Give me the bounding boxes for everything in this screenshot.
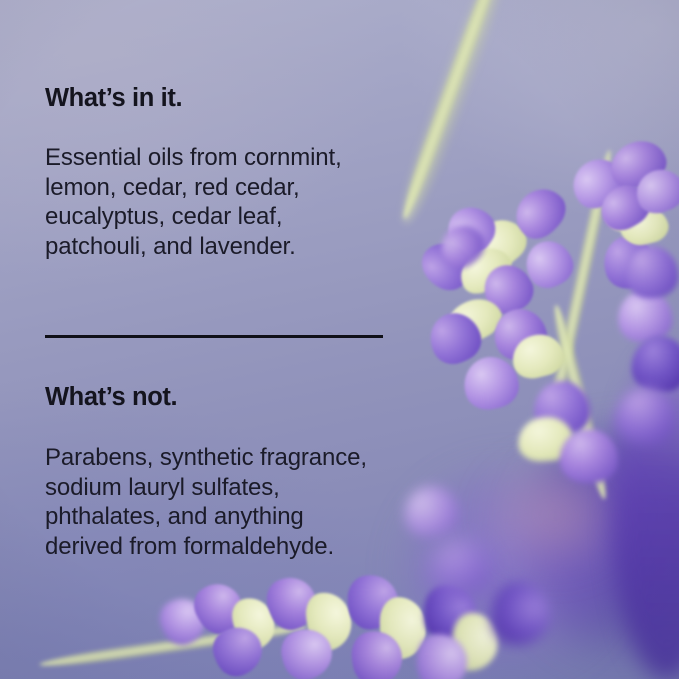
body-whats-not: Parabens, synthetic fragrance, sodium la… [45,443,367,561]
section-divider [45,335,383,338]
body-line: lemon, cedar, red cedar, [45,173,342,203]
heading-whats-in-it: What’s in it. [45,84,182,113]
ingredients-panel: What’s in it. Essential oils from cornmi… [0,0,679,679]
body-line: sodium lauryl sulfates, [45,473,367,503]
copy-container: What’s in it. Essential oils from cornmi… [45,0,475,679]
body-whats-in-it: Essential oils from cornmint, lemon, ced… [45,143,342,261]
heading-whats-not: What’s not. [45,383,177,412]
body-line: patchouli, and lavender. [45,232,342,262]
body-line: Essential oils from cornmint, [45,143,342,173]
body-line: phthalates, and anything [45,502,367,532]
body-line: Parabens, synthetic fragrance, [45,443,367,473]
body-line: derived from formaldehyde. [45,532,367,562]
body-line: eucalyptus, cedar leaf, [45,202,342,232]
